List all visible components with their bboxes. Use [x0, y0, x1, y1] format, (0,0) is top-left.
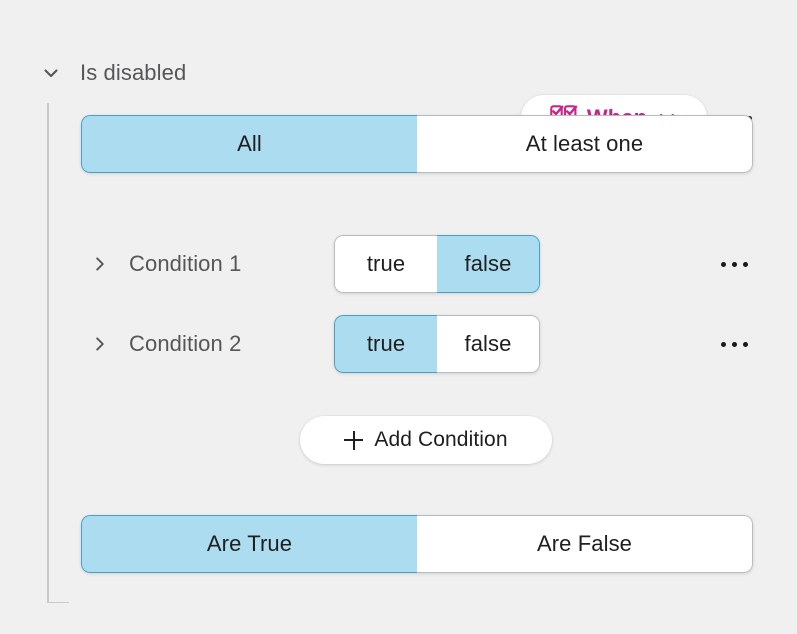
match-mode-toggle[interactable]: All At least one	[81, 115, 753, 173]
add-condition-button[interactable]: Add Condition	[300, 416, 552, 464]
add-condition-label: Add Condition	[374, 428, 507, 452]
segment-label: Are False	[537, 531, 632, 557]
match-mode-option-all[interactable]: All	[81, 115, 417, 173]
ellipsis-icon[interactable]	[714, 246, 754, 282]
segment-label: false	[465, 251, 512, 277]
result-mode-toggle[interactable]: Are True Are False	[81, 515, 753, 573]
dot	[732, 262, 737, 267]
dot	[743, 262, 748, 267]
segment-label: All	[237, 131, 262, 157]
segment-label: false	[465, 331, 512, 357]
plus-icon	[344, 431, 363, 450]
page-title: Is disabled	[80, 60, 186, 86]
condition-option-false[interactable]: false	[437, 235, 540, 293]
condition-option-true[interactable]: true	[334, 235, 437, 293]
dot	[743, 342, 748, 347]
chevron-down-icon[interactable]	[34, 56, 68, 90]
dot	[732, 342, 737, 347]
segment-label: true	[367, 331, 405, 357]
match-mode-option-at-least-one[interactable]: At least one	[417, 115, 753, 173]
condition-option-true[interactable]: true	[334, 315, 437, 373]
segment-label: At least one	[526, 131, 643, 157]
panel-header: Is disabled When	[0, 45, 797, 100]
group-connector-foot	[47, 602, 69, 604]
segment-label: true	[367, 251, 405, 277]
condition-row: Condition 2 true false	[0, 315, 797, 373]
dot	[721, 262, 726, 267]
ellipsis-icon[interactable]	[714, 326, 754, 362]
condition-option-false[interactable]: false	[437, 315, 540, 373]
chevron-right-icon[interactable]	[86, 330, 114, 358]
chevron-right-icon[interactable]	[86, 250, 114, 278]
condition-label: Condition 2	[129, 331, 241, 357]
condition-value-toggle[interactable]: true false	[334, 235, 540, 293]
condition-label: Condition 1	[129, 251, 241, 277]
dot	[721, 342, 726, 347]
condition-row: Condition 1 true false	[0, 235, 797, 293]
result-mode-option-are-false[interactable]: Are False	[417, 515, 753, 573]
segment-label: Are True	[207, 531, 292, 557]
condition-builder-panel: Is disabled When	[0, 0, 797, 634]
condition-value-toggle[interactable]: true false	[334, 315, 540, 373]
result-mode-option-are-true[interactable]: Are True	[81, 515, 417, 573]
